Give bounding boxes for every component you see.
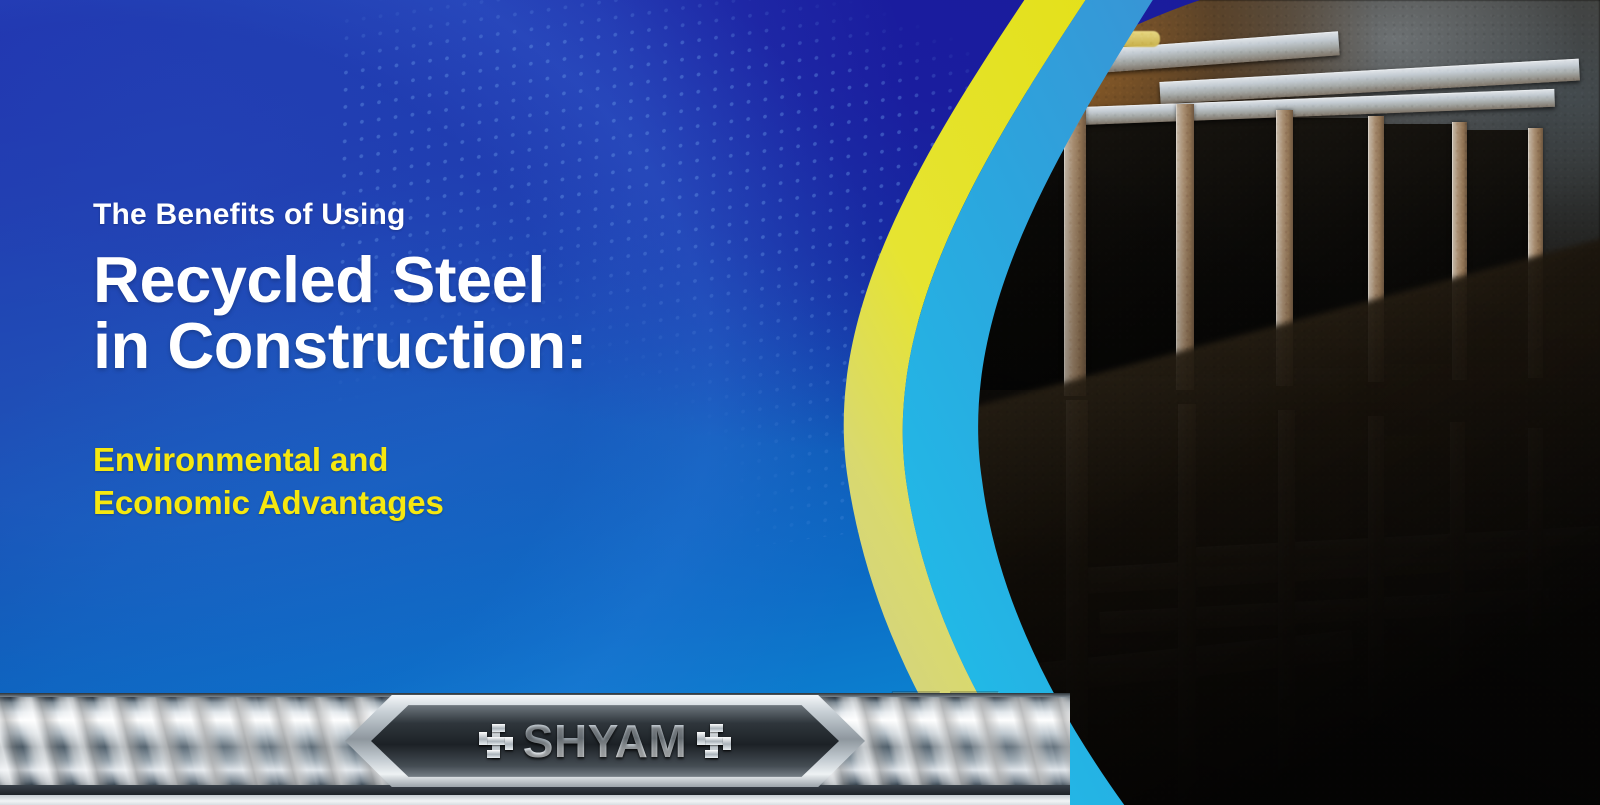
headline-line-2: in Construction: — [93, 313, 813, 379]
subtitle-text: Environmental and Economic Advantages — [93, 438, 813, 525]
eyebrow-text: The Benefits of Using — [93, 198, 813, 231]
brand-logo[interactable]: SHYAM — [345, 695, 865, 787]
headline-text-block: The Benefits of Using Recycled Steel in … — [93, 198, 813, 525]
swastika-symbol-left-icon — [479, 724, 513, 758]
logo-text-row: SHYAM — [345, 695, 865, 787]
headline-line-1: Recycled Steel — [93, 243, 545, 316]
swastika-symbol-right-icon — [697, 724, 731, 758]
promotional-banner: The Benefits of Using Recycled Steel in … — [0, 0, 1600, 805]
subtitle-line-2: Economic Advantages — [93, 481, 813, 525]
subtitle-line-1: Environmental and — [93, 438, 813, 482]
brand-name-text: SHYAM — [523, 714, 687, 768]
page-title: Recycled Steel in Construction: — [93, 247, 813, 380]
rebar-foot-strip — [0, 795, 1070, 805]
